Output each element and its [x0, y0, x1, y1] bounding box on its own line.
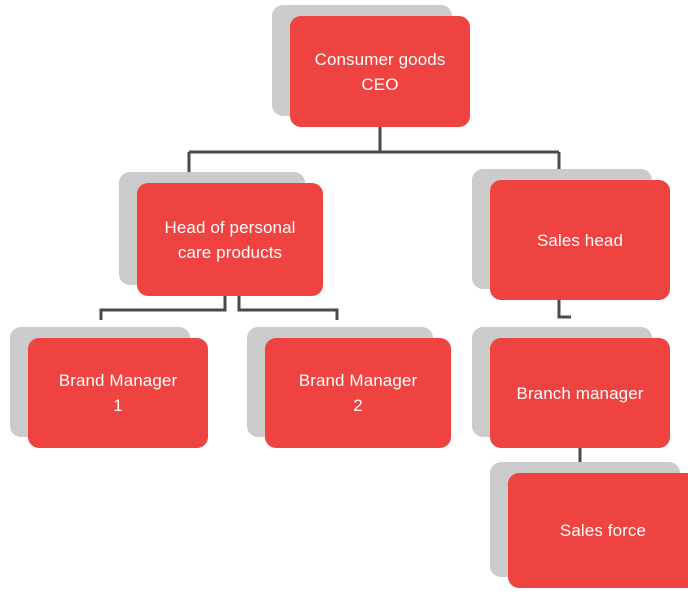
edge-sales-head-to-branch-manager [559, 300, 571, 317]
node-box[interactable]: Consumer goods CEO [290, 16, 470, 127]
node-label: Sales head [537, 228, 623, 253]
node-box[interactable]: Branch manager [490, 338, 670, 448]
node-label: Consumer goods CEO [315, 47, 446, 97]
node-box[interactable]: Brand Manager 1 [28, 338, 208, 448]
node-box[interactable]: Sales head [490, 180, 670, 300]
node-box[interactable]: Sales force [508, 473, 688, 588]
edge-head-to-brand-manager-2 [239, 296, 337, 320]
node-box[interactable]: Brand Manager 2 [265, 338, 451, 448]
edge-head-to-brand-manager-1 [101, 296, 225, 320]
node-label: Sales force [560, 518, 646, 543]
node-box[interactable]: Head of personal care products [137, 183, 323, 296]
org-chart-canvas: Consumer goods CEO Head of personal care… [0, 0, 688, 615]
node-label: Brand Manager 2 [299, 368, 417, 418]
node-label: Branch manager [516, 381, 643, 406]
node-label: Head of personal care products [164, 215, 295, 265]
node-label: Brand Manager 1 [59, 368, 177, 418]
